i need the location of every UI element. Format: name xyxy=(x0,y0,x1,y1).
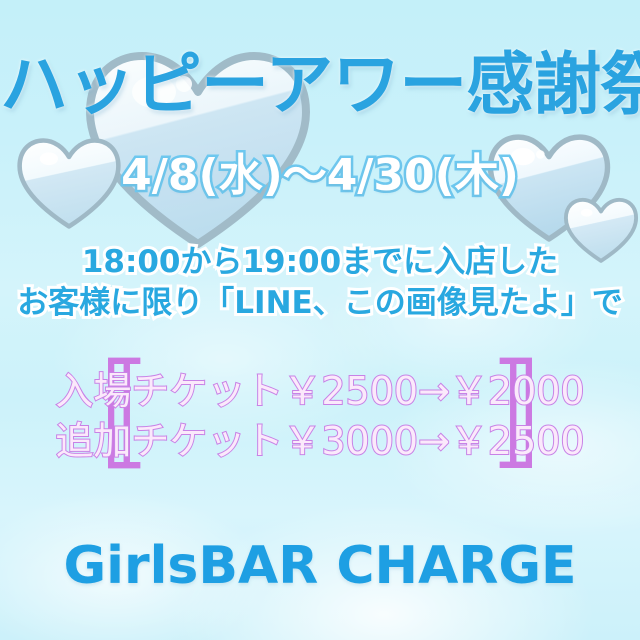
price-line-additional: 追加チケット￥3000→￥2500 xyxy=(0,422,640,460)
body-line-1: 18:00から19:00までに入店した xyxy=(0,247,640,278)
price-line-entry: 入場チケット￥2500→￥2000 xyxy=(0,372,640,410)
price-block: 〚 〛 入場チケット￥2500→￥2000 追加チケット￥3000→￥2500 xyxy=(0,360,640,480)
brand-name: GirlsBAR CHARGE xyxy=(0,540,640,592)
body-line-2: お客様に限り「LINE、この画像見たよ」で xyxy=(0,288,640,319)
date-range: 4/8(水)〜4/30(木) xyxy=(0,154,640,198)
promo-poster: ハッピーアワー感謝祭 4/8(水)〜4/30(木) 18:00から19:00まで… xyxy=(0,0,640,640)
page-title: ハッピーアワー感謝祭 xyxy=(0,52,640,120)
